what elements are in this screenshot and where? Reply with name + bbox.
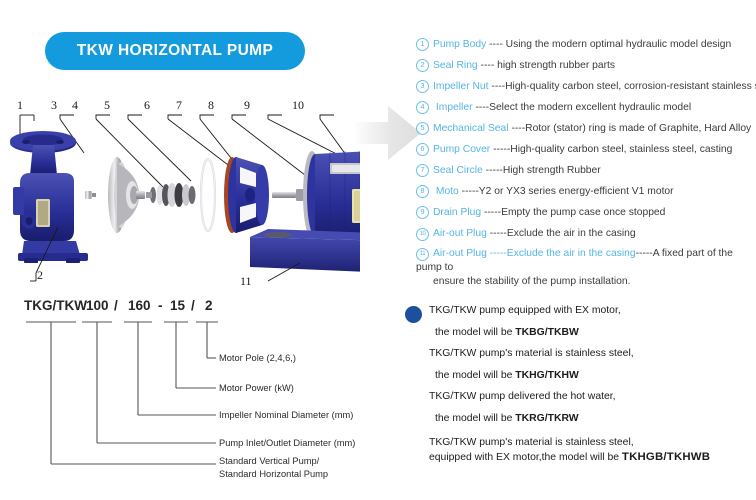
note-text: the model will be — [435, 327, 515, 338]
legend-term: Pump Cover — [433, 144, 490, 155]
code-part-power: 15 — [170, 298, 186, 313]
code-sep-3: / — [191, 298, 195, 313]
callout-number-2: 2 — [37, 268, 43, 282]
legend-desc: ---- Using the modern optimal hydraulic … — [489, 39, 731, 50]
nomenclature-labels: Motor Pole (2,4,6,) Motor Power (kW) Imp… — [219, 353, 355, 479]
legend-item-3: 3Impeller Nut ----High-quality carbon st… — [416, 76, 754, 97]
circled-number-icon: 8 — [416, 185, 429, 198]
nomenclature-label-standard-1: Standard Vertical Pump/ — [219, 456, 320, 466]
legend-item-7: 7Seal Circle -----High strength Rubber — [416, 160, 754, 181]
parts-legend-list: 1Pump Body ---- Using the modern optimal… — [416, 34, 754, 289]
nomenclature-label-standard-2: Standard Horizontal Pump — [219, 469, 328, 479]
model-code-text: TKG/TKW 100 / 160 - 15 / 2 — [24, 298, 213, 313]
note-model-code: TKRG/TKRW — [515, 413, 578, 424]
pump-body-part — [10, 131, 88, 263]
circled-number-icon: 4 — [416, 101, 429, 114]
legend-item-2: 2Seal Ring ---- high strength rubber par… — [416, 55, 754, 76]
svg-text:9: 9 — [244, 98, 250, 112]
svg-text:6: 6 — [144, 98, 150, 112]
legend-desc: ----Select the modern excellent hydrauli… — [475, 102, 691, 113]
legend-item-6: 6Pump Cover -----High-quality carbon ste… — [416, 139, 754, 160]
svg-text:1: 1 — [17, 98, 23, 112]
legend-item-10: 10Air-out Plug -----Exclude the air in t… — [416, 223, 754, 244]
legend-item-8: 8 Moto -----Y2 or YX3 series energy-effi… — [416, 181, 754, 202]
impeller-nut-part — [85, 191, 96, 199]
legend-term: Impeller Nut — [433, 81, 489, 92]
nomenclature-label-impeller-dia: Impeller Nominal Diameter (mm) — [219, 410, 353, 420]
note-text: TKG/TKW pump's material is stainless ste… — [429, 348, 634, 359]
svg-text:8: 8 — [208, 98, 214, 112]
note-line-7: TKG/TKW pump's material is stainless ste… — [429, 435, 753, 450]
note-line-3: TKG/TKW pump's material is stainless ste… — [429, 343, 753, 365]
legend-item-4: 4 Impeller ----Select the modern excelle… — [416, 97, 754, 118]
svg-text:4: 4 — [72, 98, 78, 112]
note-text: equipped with EX motor,the model will be — [429, 452, 622, 463]
legend-term: Mechanical Seal — [433, 123, 509, 134]
note-line-1: TKG/TKW pump equipped with EX motor, — [429, 300, 753, 322]
legend-term: Seal Ring — [433, 60, 478, 71]
seal-circle-part — [201, 159, 215, 231]
legend-term: Drain Plug — [433, 207, 481, 218]
circled-number-icon: 5 — [416, 122, 429, 135]
legend-item-9: 9Drain Plug -----Empty the pump case onc… — [416, 202, 754, 223]
note-text: TKG/TKW pump delivered the hot water, — [429, 391, 616, 402]
note-text: the model will be — [435, 370, 515, 381]
code-sep-2: - — [158, 298, 163, 313]
circled-number-icon: 9 — [416, 206, 429, 219]
model-variant-notes: TKG/TKW pump equipped with EX motor, the… — [403, 300, 753, 465]
note-model-code: TKBG/TKBW — [515, 327, 579, 338]
svg-text:10: 10 — [292, 98, 304, 112]
circled-number-icon: 2 — [416, 59, 429, 72]
legend-term: Seal Circle — [433, 165, 483, 176]
legend-desc: -----Exclude the air in the casing — [490, 228, 636, 239]
note-text: TKG/TKW pump's material is stainless ste… — [429, 437, 634, 448]
code-sep-1: / — [114, 298, 118, 313]
circled-number-icon: 1 — [416, 38, 429, 51]
note-line-2: the model will be TKBG/TKBW — [435, 322, 753, 344]
note-line-8: equipped with EX motor,the model will be… — [429, 450, 753, 465]
page-title: TKW HORIZONTAL PUMP — [77, 42, 273, 60]
legend-term: Air-out Plug -----Exclude the air in the… — [433, 248, 636, 259]
mechanical-seal-part — [146, 183, 196, 207]
pump-cover-part — [224, 157, 269, 233]
legend-desc: -----Y2 or YX3 series energy-efficient V… — [462, 186, 674, 197]
pump-datasheet-page: TKW HORIZONTAL PUMP — [0, 0, 756, 500]
note-model-code: TKHGB/TKHWB — [622, 451, 710, 463]
nomenclature-label-motor-power: Motor Power (kW) — [219, 383, 294, 393]
legend-desc: ----High-quality carbon steel, corrosion… — [491, 81, 756, 92]
note-line-6: the model will be TKRG/TKRW — [435, 408, 753, 430]
nomenclature-label-motor-pole: Motor Pole (2,4,6,) — [219, 353, 296, 363]
legend-item-5: 5Mechanical Seal ----Rotor (stator) ring… — [416, 118, 754, 139]
svg-text:3: 3 — [51, 98, 57, 112]
legend-desc: -----High strength Rubber — [486, 165, 601, 176]
circled-number-icon: 10 — [416, 228, 429, 241]
note-line-5: TKG/TKW pump delivered the hot water, — [429, 386, 753, 408]
flow-arrow — [352, 100, 424, 172]
legend-term: Impeller — [436, 102, 473, 113]
code-part-impeller: 160 — [128, 298, 151, 313]
legend-desc: -----High-quality carbon steel, stainles… — [493, 144, 732, 155]
exploded-pump-diagram: 1 3 4 5 6 7 8 9 10 — [0, 95, 360, 290]
note-line-4: the model will be TKHG/TKHW — [435, 365, 753, 387]
impeller-part — [108, 157, 145, 233]
page-title-banner: TKW HORIZONTAL PUMP — [45, 32, 305, 70]
legend-desc: ---- high strength rubber parts — [481, 60, 616, 71]
note-model-code: TKHG/TKHW — [515, 370, 579, 381]
legend-item-11: 11Air-out Plug -----Exclude the air in t… — [416, 244, 754, 289]
legend-term: Air-out Plug — [433, 228, 487, 239]
note-text: the model will be — [435, 413, 515, 424]
legend-item-1: 1Pump Body ---- Using the modern optimal… — [416, 34, 754, 55]
legend-desc: -----Empty the pump case once stopped — [484, 207, 665, 218]
circled-number-icon: 3 — [416, 80, 429, 93]
nomenclature-label-inlet-dia: Pump Inlet/Outlet Diameter (mm) — [219, 438, 355, 448]
bullet-dot-icon — [405, 306, 422, 323]
circled-number-icon: 7 — [416, 164, 429, 177]
svg-text:7: 7 — [176, 98, 182, 112]
model-nomenclature-diagram: TKG/TKW 100 / 160 - 15 / 2 — [0, 290, 400, 500]
svg-text:5: 5 — [104, 98, 110, 112]
legend-desc: ----Rotor (stator) ring is made of Graph… — [511, 123, 751, 134]
callout-number-11: 11 — [240, 274, 252, 288]
callout-numbers-top: 1 3 4 5 6 7 8 9 10 — [17, 98, 304, 112]
legend-term: Pump Body — [433, 39, 486, 50]
circled-number-icon: 6 — [416, 143, 429, 156]
legend-term: Moto — [436, 186, 459, 197]
note-text: TKG/TKW pump equipped with EX motor, — [429, 305, 621, 316]
legend-desc-line2: ensure the stability of the pump install… — [416, 275, 754, 289]
code-part-pole: 2 — [205, 298, 213, 313]
nomenclature-brackets — [26, 322, 218, 464]
circled-number-icon: 11 — [416, 248, 429, 261]
code-part-inlet: 100 — [86, 298, 109, 313]
code-part-prefix: TKG/TKW — [24, 298, 87, 313]
